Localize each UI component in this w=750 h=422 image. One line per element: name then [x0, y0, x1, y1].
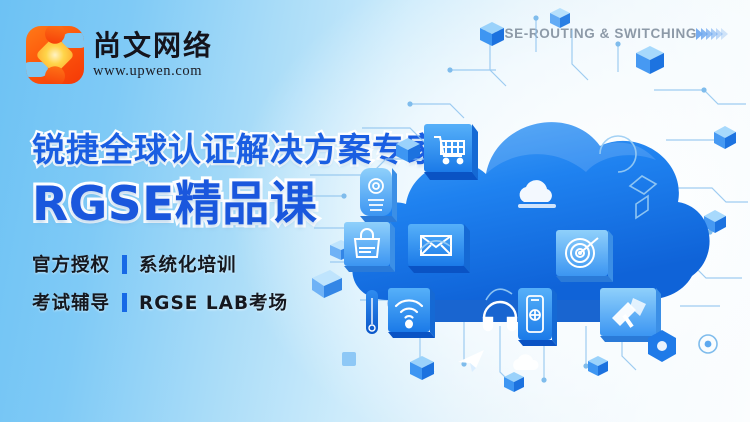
feature-1-right: 系统化培训 — [139, 251, 237, 277]
stylus-icon — [366, 290, 378, 334]
envelope-mail-icon — [408, 224, 470, 273]
smartphone-icon — [518, 288, 557, 346]
cloud-icon — [513, 354, 538, 370]
shopping-cart-icon — [424, 124, 478, 180]
upwen-s-diamond-logo-icon — [26, 26, 84, 84]
brand-logo[interactable]: 尚文网络 www.upwen.com — [26, 26, 213, 84]
paper-plane-icon — [458, 350, 484, 372]
brand-name-cn: 尚文网络 — [93, 30, 213, 61]
square-node-icon — [342, 352, 356, 366]
wifi-icon — [388, 288, 435, 338]
separator-bar — [122, 255, 127, 274]
feature-2-right: RGSE LAB考场 — [139, 289, 288, 315]
promo-banner: 尚文网络 www.upwen.com RGSE-ROUTING & SWITCH… — [0, 0, 750, 422]
brand-logo-text: 尚文网络 www.upwen.com — [93, 30, 213, 79]
cloud-computing-network-icons-illustration — [300, 0, 750, 422]
shopping-bag-icon — [344, 222, 395, 272]
logo-diamond-shape — [35, 35, 75, 75]
brand-website: www.upwen.com — [93, 63, 213, 80]
target-radar-icon — [556, 230, 613, 282]
satellite-icon — [600, 288, 661, 342]
separator-bar — [122, 293, 127, 312]
chat-bubble-icon — [312, 270, 342, 298]
feature-2-left: 考试辅导 — [32, 289, 110, 315]
feature-1-left: 官方授权 — [32, 251, 110, 277]
circle-node-icon — [699, 335, 717, 353]
